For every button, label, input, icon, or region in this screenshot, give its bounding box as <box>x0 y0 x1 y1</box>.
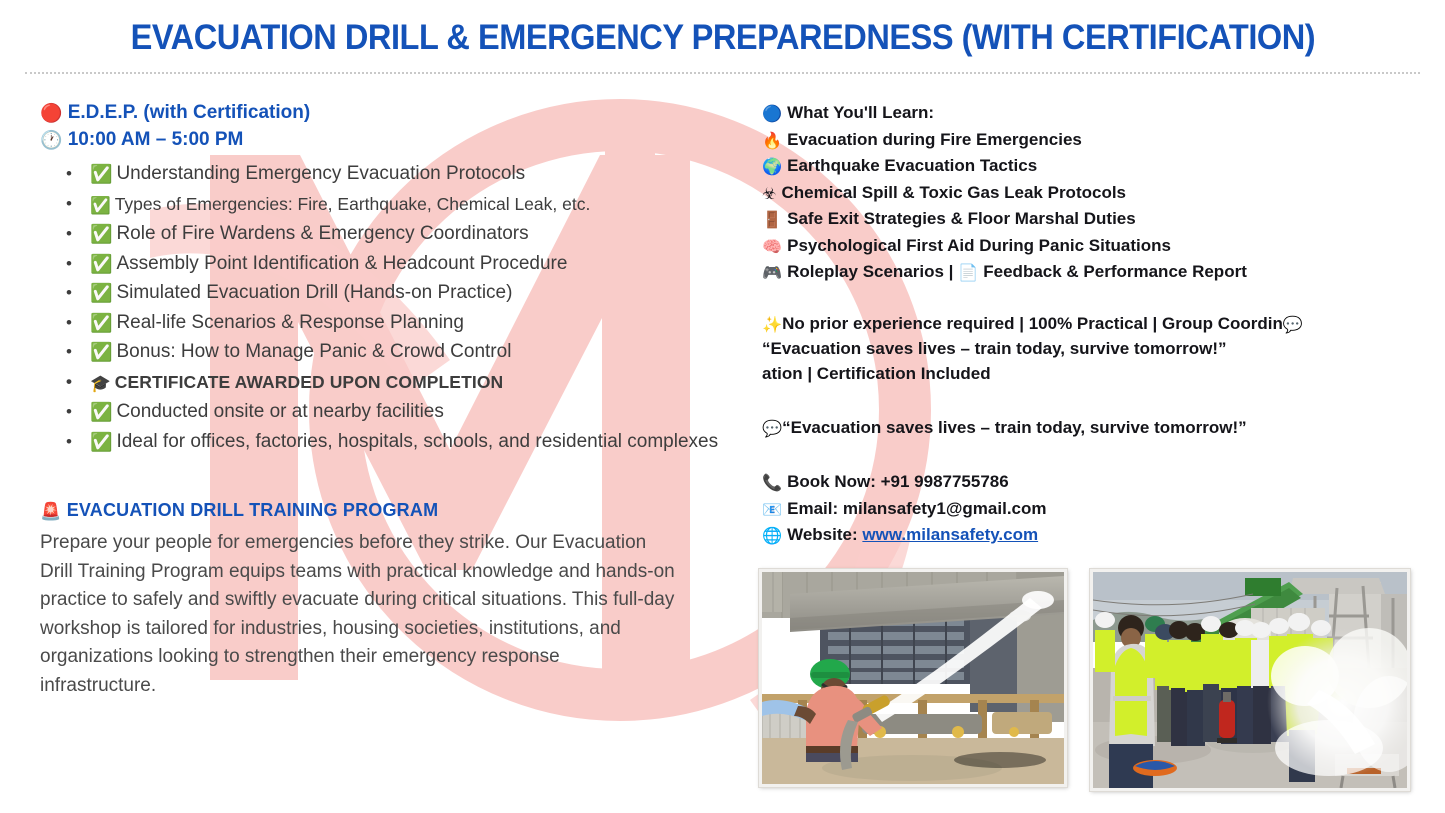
title-divider <box>25 72 1420 74</box>
photo-extinguisher-demo <box>1090 569 1410 791</box>
check-mark-icon: ✅ <box>90 399 112 428</box>
photo-fire-hose-drill <box>759 569 1067 787</box>
list-item-label: Psychological First Aid During Panic Sit… <box>787 236 1171 255</box>
contact-website[interactable]: 🌐Website: www.milansafety.com <box>762 522 1422 549</box>
list-item-label: Conducted onsite or at nearby facilities <box>116 401 443 422</box>
check-mark-icon: ✅ <box>90 429 112 458</box>
speech-balloon-icon: 💬 <box>1283 312 1303 338</box>
list-item-label: Understanding Emergency Evacuation Proto… <box>116 163 525 184</box>
sparkles-icon: ✨ <box>762 312 782 338</box>
contact-phone[interactable]: 📞Book Now: +91 9987755786 <box>762 469 1422 496</box>
list-item: 🎮Roleplay Scenarios | 📄Feedback & Perfor… <box>762 259 1422 286</box>
list-item-label: CERTIFICATE AWARDED UPON COMPLETION <box>115 372 504 392</box>
list-item-label: Types of Emergencies: Fire, Earthquake, … <box>115 194 591 214</box>
contact-phone-text: Book Now: +91 9987755786 <box>787 472 1009 491</box>
page-title: EVACUATION DRILL & EMERGENCY PREPAREDNES… <box>130 18 1315 58</box>
list-item: ✅Real-life Scenarios & Response Planning <box>40 309 730 339</box>
learn-heading-text: What You'll Learn: <box>787 103 934 122</box>
list-item: ✅Assembly Point Identification & Headcou… <box>40 250 730 280</box>
list-item-label: Safe Exit Strategies & Floor Marshal Dut… <box>787 209 1136 228</box>
highlights-line-3: ation | Certification Included <box>762 361 991 387</box>
list-item: ✅Role of Fire Wardens & Emergency Coordi… <box>40 220 730 250</box>
red-circle-icon: 🔴 <box>40 101 62 127</box>
list-item: ✅Simulated Evacuation Drill (Hands-on Pr… <box>40 279 730 309</box>
contact-website-label: Website: <box>787 525 862 544</box>
contact-email[interactable]: 📧Email: milansafety1@gmail.com <box>762 496 1422 523</box>
list-item: 🧠Psychological First Aid During Panic Si… <box>762 233 1422 260</box>
session-time-text: 10:00 AM – 5:00 PM <box>68 129 244 150</box>
page-title-bar: EVACUATION DRILL & EMERGENCY PREPAREDNES… <box>0 18 1445 58</box>
list-item: 🌍Earthquake Evacuation Tactics <box>762 153 1422 180</box>
list-item: ☣Chemical Spill & Toxic Gas Leak Protoco… <box>762 180 1422 207</box>
curriculum-list: ✅Understanding Emergency Evacuation Prot… <box>40 160 730 457</box>
highlights-line-1: ✨No prior experience required | 100% Pra… <box>762 311 1303 338</box>
what-you-will-learn-list: 🔵What You'll Learn: 🔥Evacuation during F… <box>762 100 1422 286</box>
check-mark-icon: ✅ <box>90 161 112 190</box>
tagline-quote-text: “Evacuation saves lives – train today, s… <box>782 418 1247 437</box>
list-item-label: Assembly Point Identification & Headcoun… <box>116 253 567 274</box>
contact-block: 📞Book Now: +91 9987755786 📧Email: milans… <box>762 469 1422 549</box>
list-item-label: Evacuation during Fire Emergencies <box>787 130 1082 149</box>
blue-circle-icon: 🔵 <box>762 101 782 127</box>
list-item: 🔥Evacuation during Fire Emergencies <box>762 127 1422 154</box>
highlights-line-2: “Evacuation saves lives – train today, s… <box>762 336 1227 362</box>
earth-globe-icon: 🌍 <box>762 154 782 180</box>
list-item: ✅Ideal for offices, factories, hospitals… <box>40 428 730 458</box>
graduation-cap-icon: 🎓 <box>90 370 111 399</box>
list-item: ✅Types of Emergencies: Fire, Earthquake,… <box>40 190 730 221</box>
speech-balloon-icon: 💬 <box>762 416 782 442</box>
list-item-label: Role of Fire Wardens & Emergency Coordin… <box>116 223 528 244</box>
list-item-label: Earthquake Evacuation Tactics <box>787 156 1037 175</box>
fire-icon: 🔥 <box>762 128 782 154</box>
check-mark-icon: ✅ <box>90 339 112 368</box>
list-item: ✅Understanding Emergency Evacuation Prot… <box>40 160 730 190</box>
highlights-overlap-block: ✨No prior experience required | 100% Pra… <box>762 311 1422 387</box>
check-mark-icon: ✅ <box>90 310 112 339</box>
check-mark-icon: ✅ <box>90 280 112 309</box>
video-game-icon: 🎮 <box>762 260 782 286</box>
rotating-light-icon: 🚨 <box>40 499 61 525</box>
globe-icon: 🌐 <box>762 523 782 549</box>
envelope-icon: 📧 <box>762 497 782 523</box>
website-link[interactable]: www.milansafety.com <box>862 525 1038 544</box>
list-item: ✅Bonus: How to Manage Panic & Crowd Cont… <box>40 338 730 368</box>
list-item-certificate: 🎓CERTIFICATE AWARDED UPON COMPLETION <box>40 368 730 399</box>
program-description: Prepare your people for emergencies befo… <box>40 529 680 700</box>
tagline-quote: 💬“Evacuation saves lives – train today, … <box>762 415 1422 442</box>
training-program-block: 🚨 EVACUATION DRILL TRAINING PROGRAM Prep… <box>40 497 730 700</box>
check-mark-icon: ✅ <box>90 221 112 250</box>
list-item-label: Simulated Evacuation Drill (Hands-on Pra… <box>116 282 512 303</box>
list-item-label: Ideal for offices, factories, hospitals,… <box>116 431 718 452</box>
highlights-line-1-text: No prior experience required | 100% Prac… <box>782 314 1283 333</box>
list-item: 🚪Safe Exit Strategies & Floor Marshal Du… <box>762 206 1422 233</box>
list-item-label: Real-life Scenarios & Response Planning <box>116 312 463 333</box>
list-item-label: Roleplay Scenarios | <box>787 262 958 281</box>
check-mark-icon: ✅ <box>90 251 112 280</box>
door-icon: 🚪 <box>762 207 782 233</box>
poster-page: EVACUATION DRILL & EMERGENCY PREPAREDNES… <box>0 0 1445 813</box>
program-heading: 🚨 EVACUATION DRILL TRAINING PROGRAM <box>40 497 730 525</box>
program-heading-text: EVACUATION DRILL TRAINING PROGRAM <box>67 500 439 520</box>
check-mark-icon: ✅ <box>90 192 111 221</box>
telephone-icon: 📞 <box>762 470 782 496</box>
list-item-label: Bonus: How to Manage Panic & Crowd Contr… <box>116 341 511 362</box>
right-column: 🔵What You'll Learn: 🔥Evacuation during F… <box>762 100 1422 549</box>
edep-headline: 🔴 E.D.E.P. (with Certification) <box>40 100 730 127</box>
session-time: 🕐 10:00 AM – 5:00 PM <box>40 127 730 154</box>
brain-icon: 🧠 <box>762 234 782 260</box>
page-document-icon: 📄 <box>958 260 978 286</box>
clock-icon: 🕐 <box>40 128 62 154</box>
edep-headline-text: E.D.E.P. (with Certification) <box>68 102 310 123</box>
list-item: ✅Conducted onsite or at nearby facilitie… <box>40 398 730 428</box>
learn-heading: 🔵What You'll Learn: <box>762 100 1422 127</box>
list-item-label-2: Feedback & Performance Report <box>983 262 1247 281</box>
biohazard-icon: ☣ <box>762 181 776 207</box>
left-column: 🔴 E.D.E.P. (with Certification) 🕐 10:00 … <box>40 100 730 700</box>
list-item-label: Chemical Spill & Toxic Gas Leak Protocol… <box>781 183 1126 202</box>
contact-email-text: Email: milansafety1@gmail.com <box>787 499 1046 518</box>
